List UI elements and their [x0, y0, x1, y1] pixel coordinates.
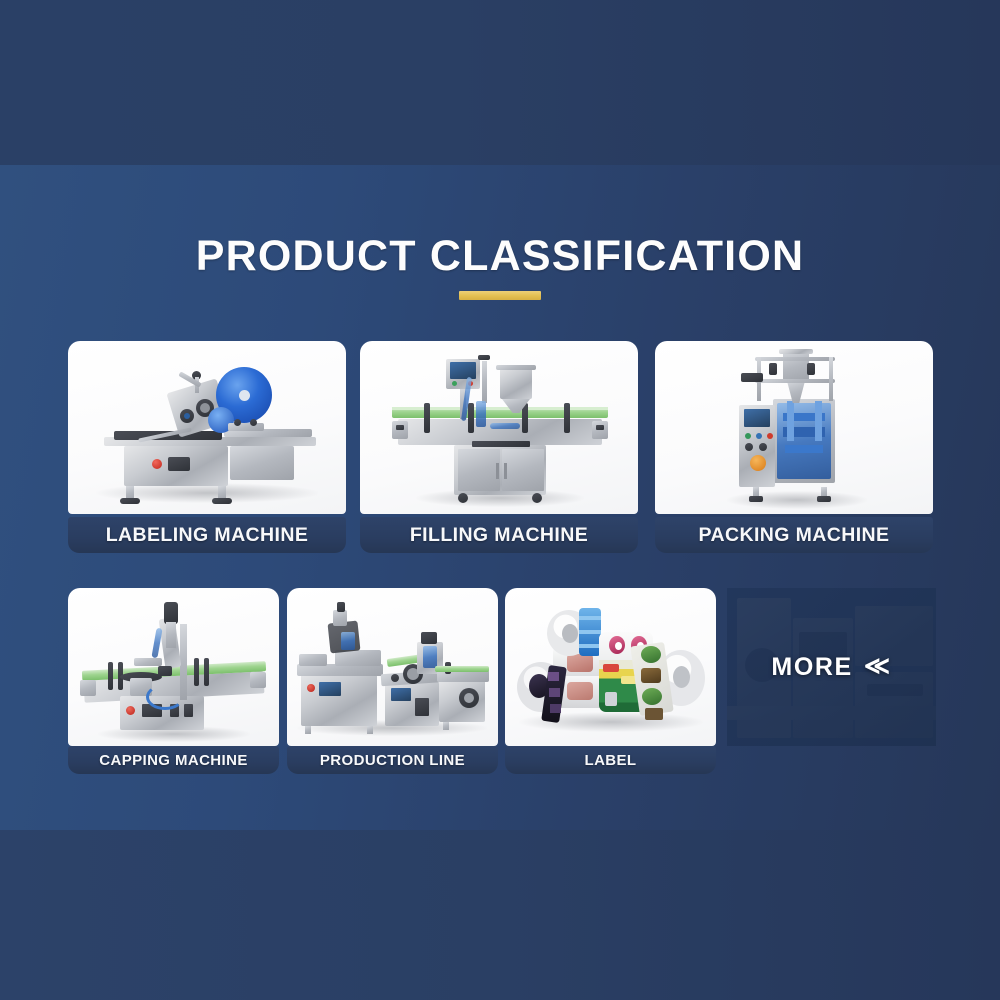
filling-machine-photo — [360, 341, 638, 514]
page-root: PRODUCT CLASSIFICATION — [0, 0, 1000, 1000]
product-card-filling-machine[interactable]: FILLING MACHINE — [360, 341, 638, 553]
product-card-label: PACKING MACHINE — [655, 517, 933, 553]
background-band-top — [0, 0, 1000, 165]
label-rolls-photo — [505, 588, 716, 746]
product-card-packing-machine[interactable]: PACKING MACHINE — [655, 341, 933, 553]
product-card-label: PRODUCTION LINE — [287, 746, 498, 774]
capping-machine-photo — [68, 588, 279, 746]
double-chevron-left-icon: ≪ — [864, 654, 892, 679]
product-card-capping-machine[interactable]: CAPPING MACHINE — [68, 588, 279, 774]
more-tile-label: MORE — [771, 653, 852, 682]
product-card-labeling-machine[interactable]: LABELING MACHINE — [68, 341, 346, 553]
title-accent-underline — [459, 291, 541, 300]
packing-machine-photo — [655, 341, 933, 514]
product-card-label: CAPPING MACHINE — [68, 746, 279, 774]
production-line-photo — [287, 588, 498, 746]
product-card-label-rolls[interactable]: LABEL — [505, 588, 716, 774]
page-title: PRODUCT CLASSIFICATION — [0, 232, 1000, 281]
background-band-bottom — [0, 830, 1000, 1000]
product-card-label: LABELING MACHINE — [68, 517, 346, 553]
product-card-production-line[interactable]: PRODUCTION LINE — [287, 588, 498, 774]
labeling-machine-photo — [68, 341, 346, 514]
product-card-label: LABEL — [505, 746, 716, 774]
more-tile[interactable]: MORE ≪ — [727, 588, 936, 746]
product-card-label: FILLING MACHINE — [360, 517, 638, 553]
